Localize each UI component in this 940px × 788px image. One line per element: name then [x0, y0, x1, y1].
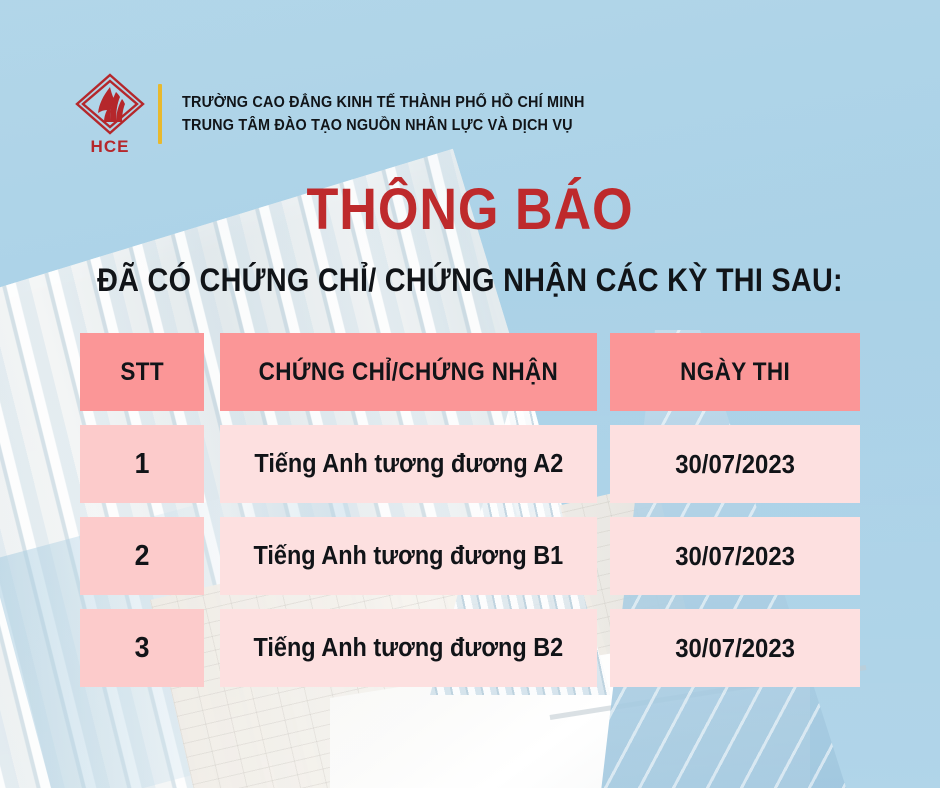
cell-exam-date: 30/07/2023	[610, 517, 860, 595]
table-row: 3 Tiếng Anh tương đương B2 30/07/2023	[80, 609, 860, 687]
brand-header: HCE TRƯỜNG CAO ĐẲNG KINH TẾ THÀNH PHỐ HỒ…	[70, 70, 615, 158]
cell-certificate: Tiếng Anh tương đương A2	[220, 425, 597, 503]
value-exam-date: 30/07/2023	[675, 449, 795, 480]
cell-stt: 3	[80, 609, 204, 687]
value-stt: 2	[135, 540, 150, 573]
header-cell-stt: STT	[80, 333, 204, 411]
page-subtitle: ĐÃ CÓ CHỨNG CHỈ/ CHỨNG NHẬN CÁC KỲ THI S…	[47, 262, 893, 299]
org-line-1: TRƯỜNG CAO ĐẲNG KINH TẾ THÀNH PHỐ HỒ CHÍ…	[182, 94, 585, 112]
logo-wordmark: HCE	[91, 137, 130, 156]
organization-name: TRƯỜNG CAO ĐẲNG KINH TẾ THÀNH PHỐ HỒ CHÍ…	[182, 94, 615, 135]
cell-exam-date: 30/07/2023	[610, 609, 860, 687]
value-exam-date: 30/07/2023	[675, 633, 795, 664]
announcement-poster: HCE TRƯỜNG CAO ĐẲNG KINH TẾ THÀNH PHỐ HỒ…	[0, 0, 940, 788]
table-header-row: STT CHỨNG CHỈ/CHỨNG NHẬN NGÀY THI	[80, 333, 860, 411]
value-certificate: Tiếng Anh tương đương B1	[254, 542, 564, 571]
cell-certificate: Tiếng Anh tương đương B2	[220, 609, 597, 687]
table-row: 1 Tiếng Anh tương đương A2 30/07/2023	[80, 425, 860, 503]
page-title: THÔNG BÁO	[47, 176, 893, 243]
header-cell-certificate: CHỨNG CHỈ/CHỨNG NHẬN	[220, 333, 597, 411]
value-certificate: Tiếng Anh tương đương A2	[254, 450, 563, 479]
value-stt: 3	[135, 632, 150, 665]
value-certificate: Tiếng Anh tương đương B2	[254, 634, 564, 663]
org-line-2: TRUNG TÂM ĐÀO TẠO NGUỒN NHÂN LỰC VÀ DỊCH…	[182, 117, 585, 135]
cell-stt: 1	[80, 425, 204, 503]
header-cell-exam-date: NGÀY THI	[610, 333, 860, 411]
header-label-exam-date: NGÀY THI	[680, 358, 790, 387]
cell-certificate: Tiếng Anh tương đương B1	[220, 517, 597, 595]
table-row: 2 Tiếng Anh tương đương B1 30/07/2023	[80, 517, 860, 595]
certificates-table: STT CHỨNG CHỈ/CHỨNG NHẬN NGÀY THI 1 Tiến…	[80, 333, 860, 687]
cell-stt: 2	[80, 517, 204, 595]
header-label-certificate: CHỨNG CHỈ/CHỨNG NHẬN	[259, 358, 559, 387]
value-stt: 1	[135, 448, 150, 481]
vertical-rule-divider	[158, 84, 162, 144]
value-exam-date: 30/07/2023	[675, 541, 795, 572]
cell-exam-date: 30/07/2023	[610, 425, 860, 503]
hce-flame-diamond-logo: HCE	[70, 70, 150, 158]
header-label-stt: STT	[120, 358, 164, 387]
